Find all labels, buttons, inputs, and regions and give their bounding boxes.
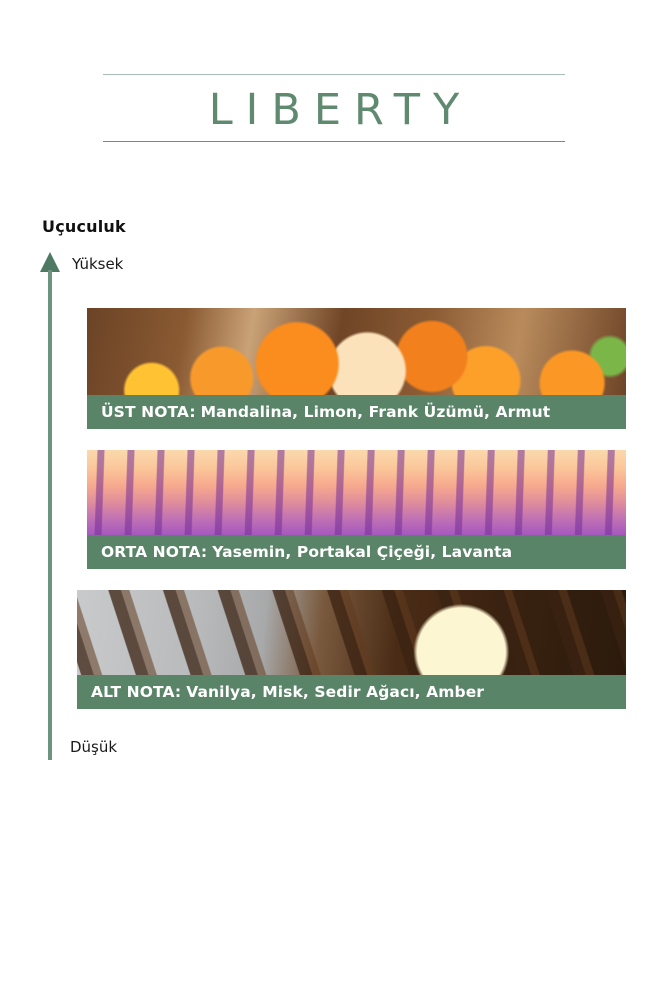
axis-label-low: Düşük — [70, 738, 117, 756]
axis-line — [48, 270, 52, 760]
note-label-middle: ORTA NOTA: — [101, 543, 207, 561]
note-items-bottom: Vanilya, Misk, Sedir Ağacı, Amber — [186, 683, 484, 701]
brand-header: LIBERTY — [103, 66, 565, 146]
note-label-top: ÜST NOTA: — [101, 403, 196, 421]
arrow-up-icon — [40, 252, 61, 272]
axis-label-high: Yüksek — [72, 255, 123, 273]
note-band-middle[interactable]: ORTA NOTA: Yasemin, Portakal Çiçeği, Lav… — [87, 450, 626, 569]
header-rule-top — [103, 74, 565, 75]
header-rule-bottom — [103, 141, 565, 142]
note-band-top[interactable]: ÜST NOTA: Mandalina, Limon, Frank Üzümü,… — [87, 308, 626, 429]
note-label-bottom: ALT NOTA: — [91, 683, 181, 701]
note-caption-bottom: ALT NOTA: Vanilya, Misk, Sedir Ağacı, Am… — [77, 675, 626, 709]
note-caption-middle: ORTA NOTA: Yasemin, Portakal Çiçeği, Lav… — [87, 535, 626, 569]
note-items-middle: Yasemin, Portakal Çiçeği, Lavanta — [212, 543, 512, 561]
page-title: LIBERTY — [103, 82, 565, 138]
axis-title: Uçuculuk — [42, 217, 126, 236]
note-caption-top: ÜST NOTA: Mandalina, Limon, Frank Üzümü,… — [87, 395, 626, 429]
note-items-top: Mandalina, Limon, Frank Üzümü, Armut — [201, 403, 551, 421]
note-band-bottom[interactable]: ALT NOTA: Vanilya, Misk, Sedir Ağacı, Am… — [77, 590, 626, 709]
